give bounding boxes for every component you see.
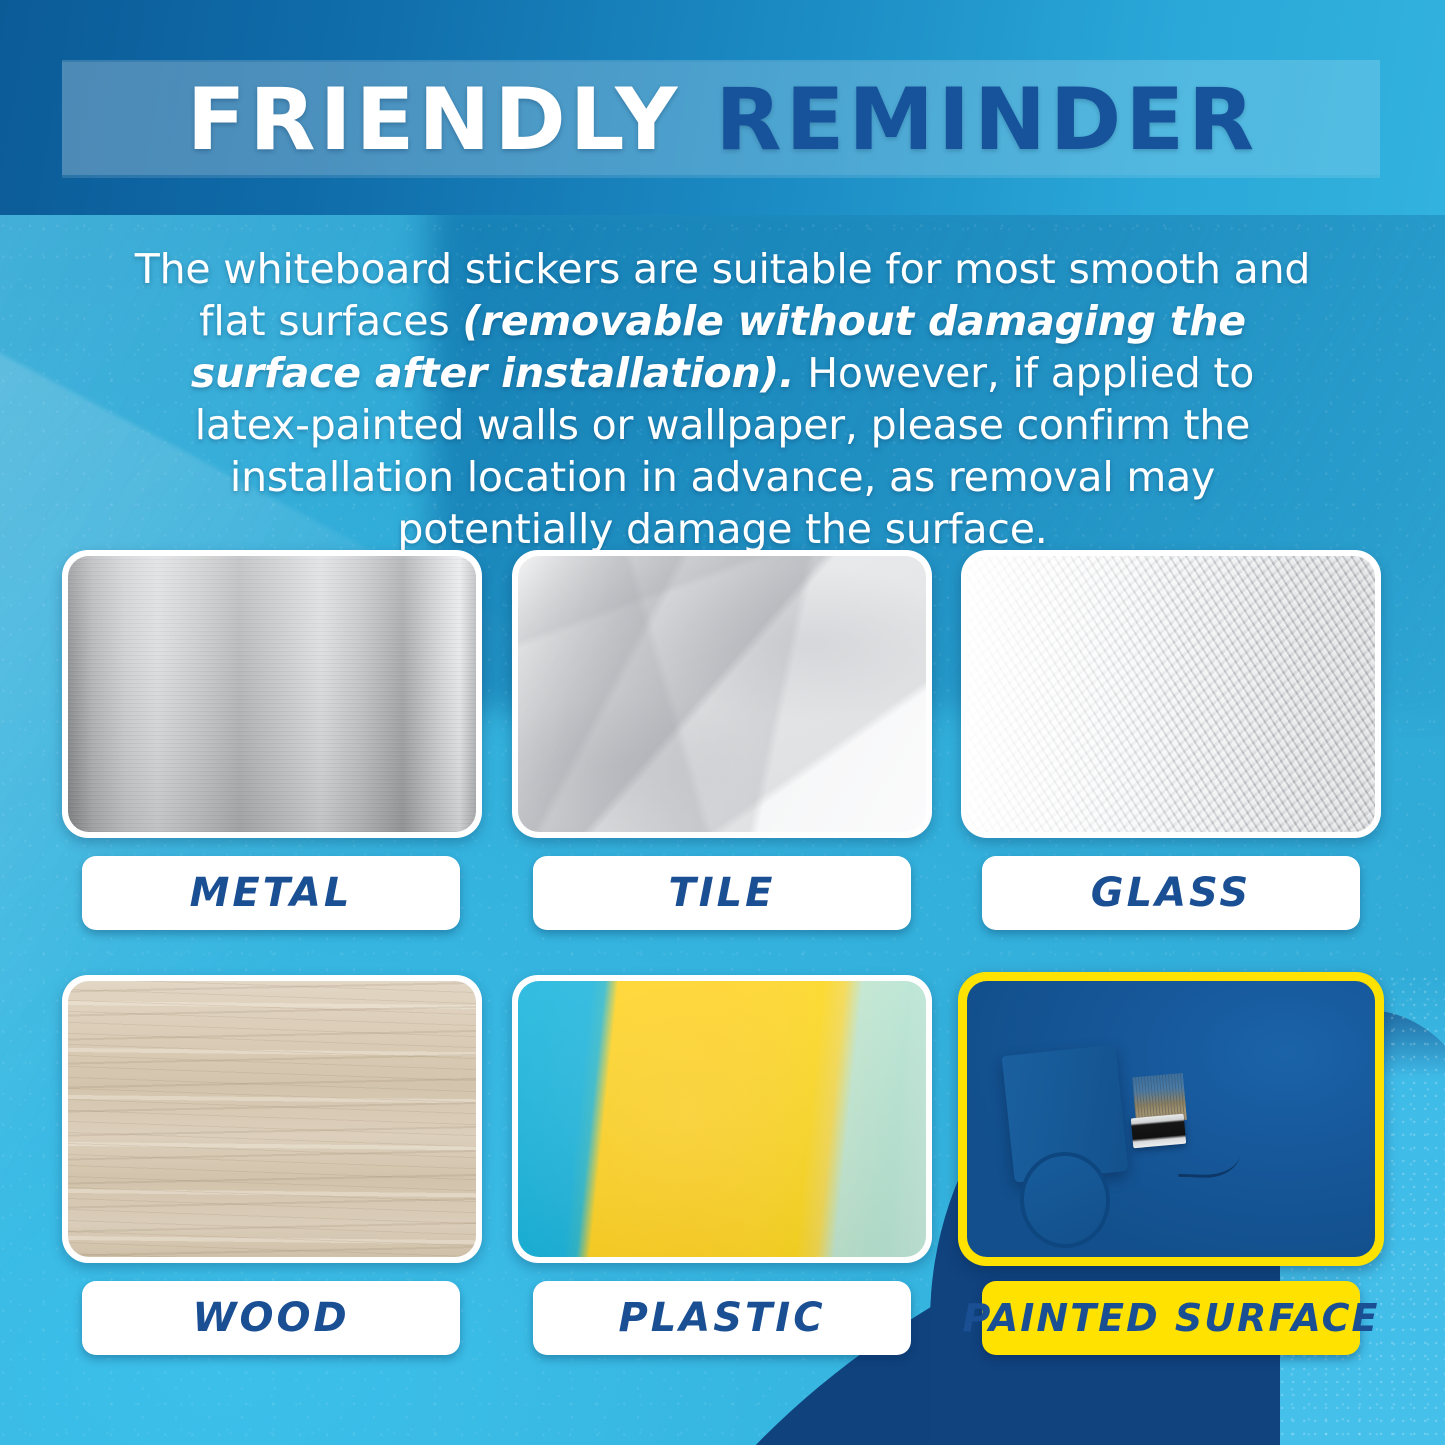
surface-cell-glass[interactable] <box>961 550 1381 838</box>
surface-tile-tile[interactable] <box>512 550 932 838</box>
surface-label-glass[interactable]: GLASS <box>982 856 1360 930</box>
surface-tile-metal[interactable] <box>62 550 482 838</box>
surface-label-text-tile: TILE <box>669 870 776 916</box>
paintbrush-handle-icon <box>1178 1134 1241 1178</box>
surface-tile-plastic[interactable] <box>512 975 932 1263</box>
surface-cell-plastic[interactable] <box>512 975 932 1263</box>
surface-cell-metal[interactable] <box>62 550 482 838</box>
page-title-word-reminder: REMINDER <box>715 70 1258 170</box>
plastic-swatch <box>518 981 926 1257</box>
surface-label-tile[interactable]: TILE <box>533 856 911 930</box>
friendly-reminder-poster: FRIENDLY REMINDER The whiteboard sticker… <box>0 0 1445 1445</box>
brushed-metal-swatch <box>68 556 476 832</box>
painted-surface-swatch <box>967 981 1375 1257</box>
page-title: FRIENDLY REMINDER <box>0 66 1445 174</box>
surface-label-text-plastic: PLASTIC <box>618 1295 825 1341</box>
surface-cell-painted[interactable] <box>958 972 1384 1266</box>
surface-cell-tile[interactable] <box>512 550 932 838</box>
surface-label-plastic[interactable]: PLASTIC <box>533 1281 911 1355</box>
surface-label-text-wood: WOOD <box>192 1295 349 1341</box>
surface-tile-glass[interactable] <box>961 550 1381 838</box>
surface-tile-painted[interactable] <box>958 972 1384 1266</box>
description-paragraph: The whiteboard stickers are suitable for… <box>130 243 1315 555</box>
surface-label-text-metal: METAL <box>190 870 353 916</box>
surface-cell-wood[interactable] <box>62 975 482 1263</box>
surface-label-text-painted: PAINTED SURFACE <box>963 1296 1380 1340</box>
surface-label-metal[interactable]: METAL <box>82 856 460 930</box>
surface-label-text-glass: GLASS <box>1091 870 1251 916</box>
marble-tile-swatch <box>518 556 926 832</box>
frosted-glass-swatch <box>967 556 1375 832</box>
page-title-word-friendly: FRIENDLY <box>187 70 682 170</box>
light-wood-swatch <box>68 981 476 1257</box>
surface-label-painted[interactable]: PAINTED SURFACE <box>982 1281 1360 1355</box>
surface-tile-wood[interactable] <box>62 975 482 1263</box>
paintbrush-ferrule-icon <box>1131 1114 1186 1149</box>
surface-label-wood[interactable]: WOOD <box>82 1281 460 1355</box>
